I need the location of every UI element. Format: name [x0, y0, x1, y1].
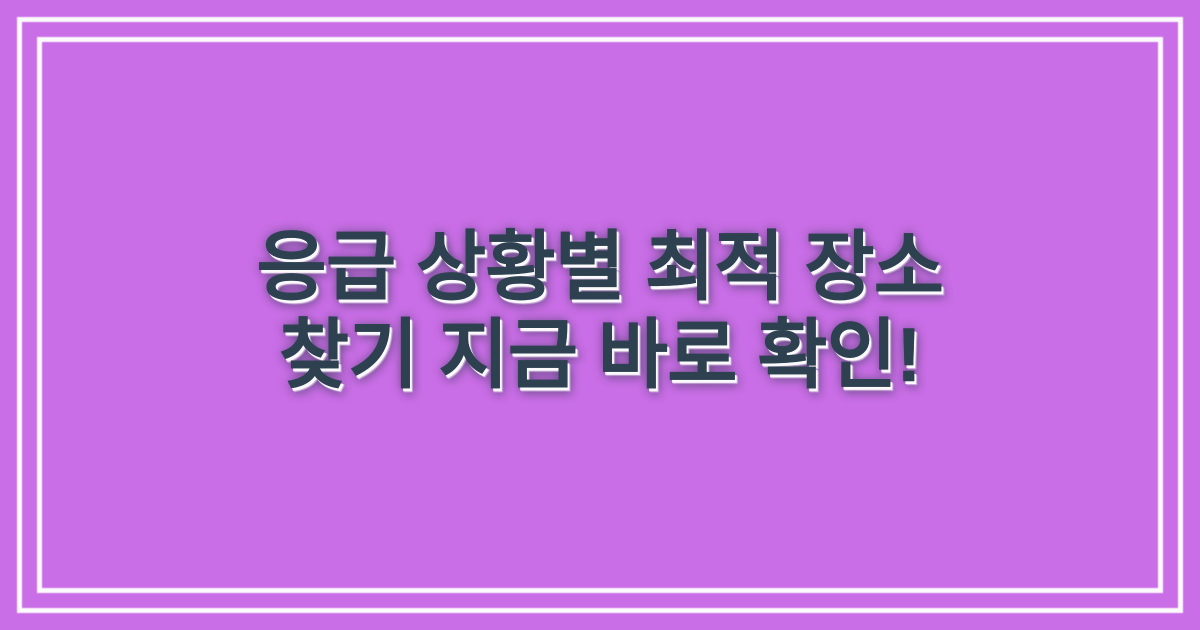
headline-line-2: 찾기 지금 바로 확인!: [257, 312, 944, 400]
headline-line-1: 응급 상황별 최적 장소: [257, 224, 944, 312]
thumbnail-canvas: 응급 상황별 최적 장소 찾기 지금 바로 확인!: [0, 0, 1200, 630]
headline-container: 응급 상황별 최적 장소 찾기 지금 바로 확인!: [0, 0, 1200, 630]
page-title: 응급 상황별 최적 장소 찾기 지금 바로 확인!: [257, 224, 944, 400]
